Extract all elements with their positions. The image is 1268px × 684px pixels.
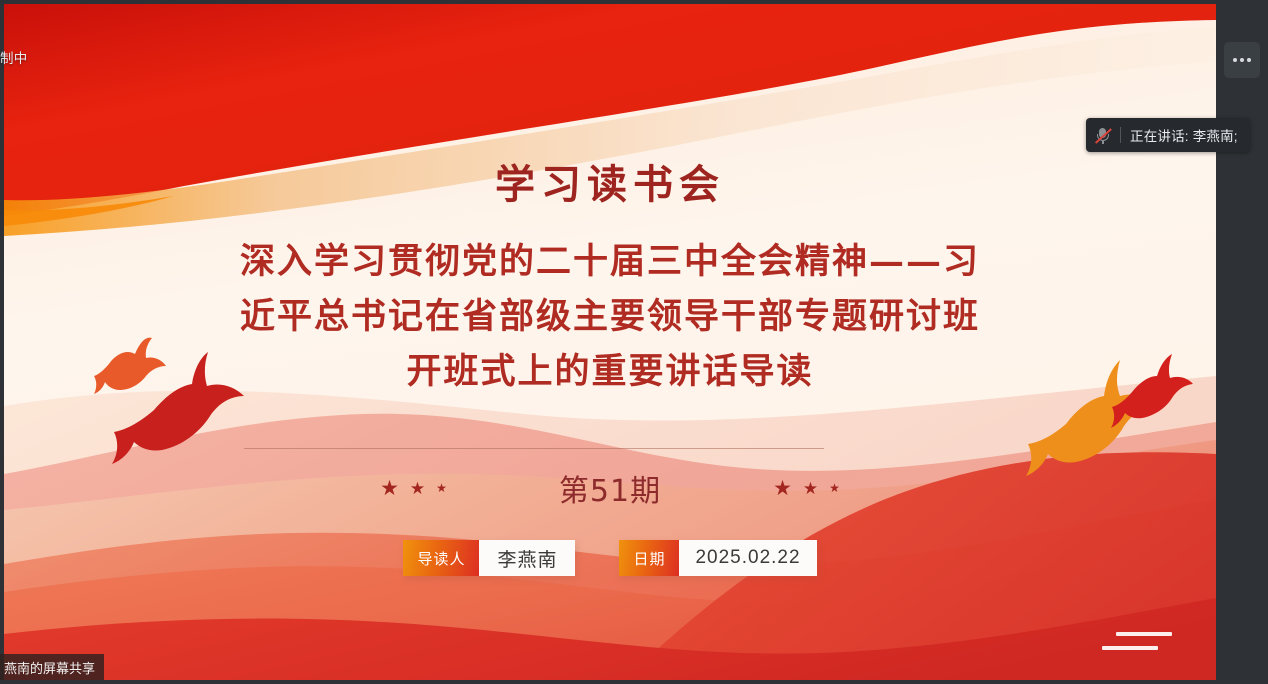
slide-subtitle-line-1: 深入学习贯彻党的二十届三中全会精神——习	[4, 234, 1216, 289]
more-options-icon	[1233, 58, 1237, 62]
star-icon: ★	[380, 478, 399, 499]
divider-rule	[244, 448, 824, 449]
issue-row: ★ ★ ★ 第51期 ★ ★ ★	[4, 459, 1216, 517]
stars-left-decoration: ★ ★ ★	[380, 478, 447, 499]
mic-muted-icon	[1094, 126, 1111, 145]
star-icon: ★	[773, 478, 792, 499]
slide-subtitle: 深入学习贯彻党的二十届三中全会精神——习 近平总书记在省部级主要领导干部专题研讨…	[4, 234, 1216, 399]
issue-number: 第51期	[559, 466, 661, 510]
stars-right-decoration: ★ ★ ★	[773, 478, 840, 499]
speaking-text: 正在讲话: 李燕南;	[1130, 125, 1238, 145]
more-options-icon	[1240, 58, 1244, 62]
presenter-field: 导读人 李燕南	[403, 540, 575, 576]
more-options-button[interactable]	[1224, 42, 1260, 78]
star-icon: ★	[410, 480, 425, 497]
screen-share-badge: 燕南的屏幕共享	[0, 654, 104, 680]
date-value: 2025.02.22	[679, 540, 816, 576]
speaking-indicator: 正在讲话: 李燕南;	[1086, 118, 1250, 152]
meeting-window: 学习读书会 深入学习贯彻党的二十届三中全会精神——习 近平总书记在省部级主要领导…	[0, 0, 1268, 684]
more-options-icon	[1247, 58, 1251, 62]
corner-lines-decoration	[1102, 632, 1172, 650]
presenter-value: 李燕南	[479, 540, 575, 576]
slide-title: 学习读书会	[4, 152, 1216, 210]
recording-indicator: 制中	[0, 47, 28, 67]
date-label: 日期	[619, 540, 679, 576]
window-top-edge	[0, 0, 1216, 4]
date-field: 日期 2025.02.22	[619, 540, 816, 576]
shared-slide: 学习读书会 深入学习贯彻党的二十届三中全会精神——习 近平总书记在省部级主要领导…	[4, 4, 1216, 680]
pill-divider	[1120, 127, 1121, 143]
star-icon: ★	[829, 482, 840, 494]
slide-meta-row: 导读人 李燕南 日期 2025.02.22	[4, 540, 1216, 576]
right-side-panel	[1216, 0, 1268, 684]
slide-subtitle-line-2: 近平总书记在省部级主要领导干部专题研讨班	[4, 289, 1216, 344]
star-icon: ★	[436, 482, 447, 494]
presenter-label: 导读人	[403, 540, 479, 576]
slide-subtitle-line-3: 开班式上的重要讲话导读	[4, 344, 1216, 399]
star-icon: ★	[803, 480, 818, 497]
